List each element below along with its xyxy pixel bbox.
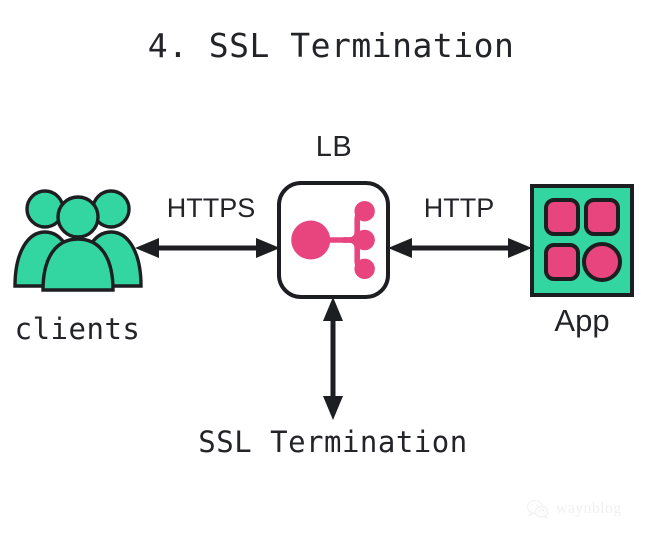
edge-label-ssl-termination: SSL Termination xyxy=(150,425,516,459)
node-app[interactable] xyxy=(530,184,634,297)
clients-label: clients xyxy=(0,312,155,346)
load-balancer-icon xyxy=(281,185,386,295)
node-load-balancer[interactable] xyxy=(277,181,390,299)
app-grid-icon xyxy=(530,184,634,297)
lb-label: LB xyxy=(277,131,391,164)
edge-label-http: HTTP xyxy=(394,193,524,224)
watermark-text: waynblog xyxy=(556,500,622,518)
users-group-icon xyxy=(10,186,146,292)
wechat-icon xyxy=(527,499,549,519)
edge-lb-to-ssl-termination xyxy=(323,297,343,420)
edge-clients-to-lb xyxy=(135,238,280,258)
edge-lb-to-app xyxy=(388,238,532,258)
page-title: 4. SSL Termination xyxy=(0,26,662,65)
app-label: App xyxy=(522,303,642,339)
edge-label-https: HTTPS xyxy=(146,193,276,224)
watermark: waynblog xyxy=(527,496,647,522)
